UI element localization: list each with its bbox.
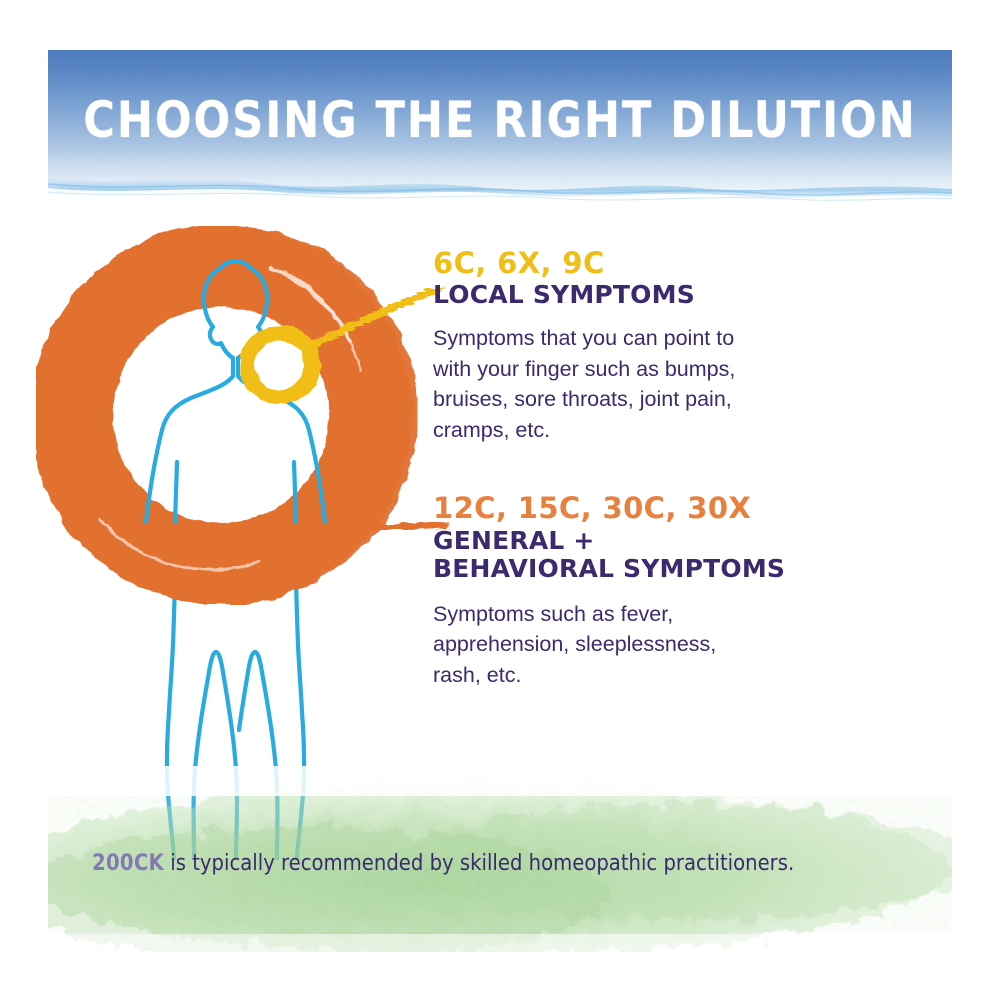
symptom-description-local: Symptoms that you can point to with your… — [433, 323, 933, 445]
dilution-text-column: 6C, 6X, 9C LOCAL SYMPTOMS Symptoms that … — [433, 248, 933, 718]
page-title: CHOOSING THE RIGHT DILUTION — [66, 50, 934, 212]
footer-note: 200CK is typically recommended by skille… — [48, 766, 952, 952]
infographic-canvas: CHOOSING THE RIGHT DILUTION — [0, 0, 1000, 1000]
symptom-heading-line2: BEHAVIORAL SYMPTOMS — [433, 554, 785, 583]
dilution-block-local: 6C, 6X, 9C LOCAL SYMPTOMS Symptoms that … — [433, 248, 933, 445]
body-and-rings-illustration — [30, 220, 450, 860]
footer-highlight: 200CK — [92, 850, 164, 876]
dilution-values-general: 12C, 15C, 30C, 30X — [433, 493, 933, 524]
desc-line: apprehension, sleeplessness, — [433, 632, 716, 656]
symptom-heading-local: LOCAL SYMPTOMS — [433, 281, 933, 309]
desc-line: rash, etc. — [433, 663, 521, 687]
desc-line: cramps, etc. — [433, 418, 550, 442]
footer-body: is typically recommended by skilled home… — [164, 850, 794, 876]
footer-text: 200CK is typically recommended by skille… — [92, 850, 926, 876]
desc-line: Symptoms that you can point to — [433, 326, 734, 350]
symptom-heading-line1: GENERAL + — [433, 526, 595, 555]
desc-line: bruises, sore throats, joint pain, — [433, 387, 732, 411]
desc-line: Symptoms such as fever, — [433, 602, 673, 626]
desc-line: with your finger such as bumps, — [433, 357, 735, 381]
header-banner: CHOOSING THE RIGHT DILUTION — [48, 50, 952, 212]
dilution-values-local: 6C, 6X, 9C — [433, 248, 933, 279]
symptom-description-general: Symptoms such as fever, apprehension, sl… — [433, 599, 933, 691]
illustration-group — [30, 220, 450, 860]
dilution-block-general: 12C, 15C, 30C, 30X GENERAL + BEHAVIORAL … — [433, 493, 933, 690]
symptom-heading-general: GENERAL + BEHAVIORAL SYMPTOMS — [433, 527, 933, 583]
